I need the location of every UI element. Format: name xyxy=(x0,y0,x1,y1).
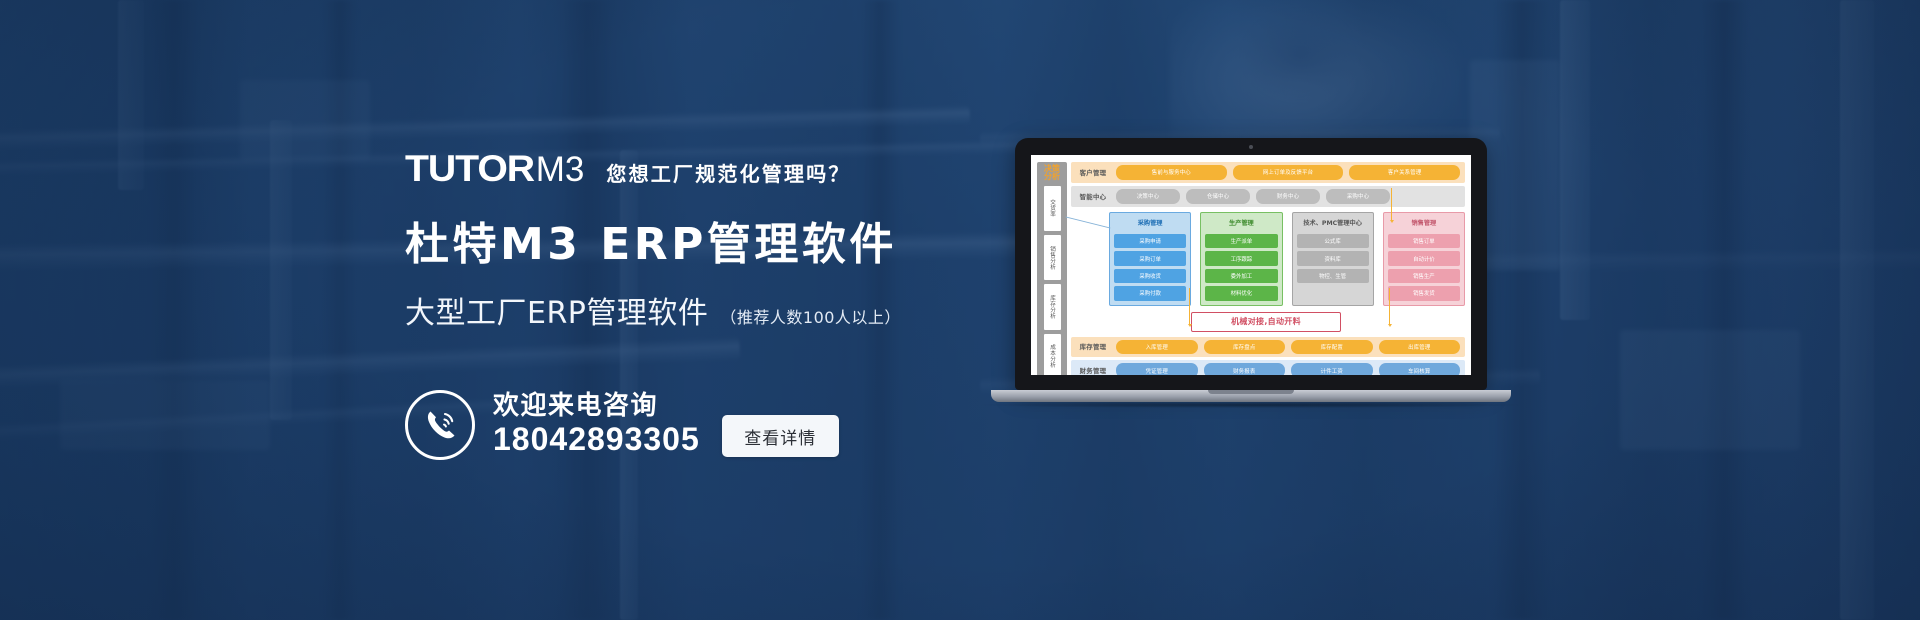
erp-column-item[interactable]: 采购订单 xyxy=(1114,251,1186,265)
erp-band-label: 库存管理 xyxy=(1076,342,1110,351)
laptop-screen: 决策分析 交货率 销售分析 库存分析 成本分析 客户管理 售前与服务中心 网上订… xyxy=(1031,155,1471,375)
erp-column-item[interactable]: 销售生产 xyxy=(1388,269,1460,283)
phone-number[interactable]: 18042893305 xyxy=(493,423,700,457)
brand-tagline: 您想工厂规范化管理吗？ xyxy=(606,158,850,187)
erp-band-finance: 财务管理 凭证管理 财务报表 计件工资 车间核算 xyxy=(1071,360,1465,375)
erp-chip[interactable]: 财务报表 xyxy=(1204,363,1286,375)
erp-sidebar-item[interactable]: 交货率 xyxy=(1044,186,1061,231)
erp-chip[interactable]: 库存配置 xyxy=(1291,340,1373,355)
erp-column-item[interactable]: 销售订单 xyxy=(1388,234,1460,248)
erp-column-item[interactable]: 公式库 xyxy=(1297,234,1369,248)
hero-banner: TUTOR M3 您想工厂规范化管理吗？ 杜特M3 ERP管理软件 大型工厂ER… xyxy=(0,0,1920,620)
cta-row: 欢迎来电咨询 18042893305 查看详情 xyxy=(405,390,839,460)
erp-column-item[interactable]: 物控、生管 xyxy=(1297,269,1369,283)
erp-chip[interactable]: 网上订单及反馈平台 xyxy=(1233,165,1344,180)
erp-band-inventory: 库存管理 入库管理 库存盘点 库存配置 出库管理 xyxy=(1071,337,1465,358)
erp-column-item[interactable]: 资料库 xyxy=(1297,251,1369,265)
erp-chip-spacer xyxy=(1396,193,1460,200)
laptop-base xyxy=(991,390,1511,402)
erp-column-purchasing: 采购管理 采购申请 采购订单 采购收货 采购付款 xyxy=(1109,212,1191,306)
erp-sidebar-item[interactable]: 销售分析 xyxy=(1044,235,1061,280)
erp-column-item[interactable]: 材料优化 xyxy=(1205,286,1277,300)
erp-chip[interactable]: 计件工资 xyxy=(1291,363,1373,375)
logo-model: M3 xyxy=(536,150,585,190)
erp-sidebar-item[interactable]: 库存分析 xyxy=(1044,284,1061,329)
erp-band-label: 财务管理 xyxy=(1076,366,1110,375)
erp-chip[interactable]: 决策中心 xyxy=(1116,189,1180,204)
logo-wordmark: TUTOR xyxy=(405,148,534,190)
erp-arrow xyxy=(1389,288,1390,324)
webcam-icon xyxy=(1249,145,1253,149)
phone-ring-icon xyxy=(405,390,475,460)
hero-subtitle: 大型工厂ERP管理软件 （推荐人数100人以上） xyxy=(405,288,901,332)
erp-sidebar: 决策分析 交货率 销售分析 库存分析 成本分析 xyxy=(1037,162,1067,375)
erp-chip[interactable]: 采购中心 xyxy=(1326,189,1390,204)
erp-chip[interactable]: 库存盘点 xyxy=(1204,340,1286,355)
erp-chip[interactable]: 仓储中心 xyxy=(1186,189,1250,204)
erp-main: 客户管理 售前与服务中心 网上订单及反馈平台 客户关系管理 智能中心 决策中心 … xyxy=(1071,162,1465,375)
erp-band-smart-center: 智能中心 决策中心 仓储中心 财务中心 采购中心 xyxy=(1071,186,1465,207)
erp-connector xyxy=(1066,216,1111,228)
brand-logo: TUTOR M3 您想工厂规范化管理吗？ xyxy=(405,148,851,190)
erp-band-label: 智能中心 xyxy=(1076,192,1110,201)
erp-column-item[interactable]: 采购收货 xyxy=(1114,269,1186,283)
erp-column-item[interactable]: 自动计价 xyxy=(1388,251,1460,265)
erp-chip[interactable]: 入库管理 xyxy=(1116,340,1198,355)
erp-column-item[interactable]: 工序跟踪 xyxy=(1205,251,1277,265)
erp-arrow xyxy=(1189,288,1190,324)
erp-column-title: 技术、PMC管理中心 xyxy=(1297,216,1369,230)
hero-headline: 杜特M3 ERP管理软件 xyxy=(405,208,897,272)
laptop-shadow xyxy=(981,402,1521,408)
erp-diagram: 决策分析 交货率 销售分析 库存分析 成本分析 客户管理 售前与服务中心 网上订… xyxy=(1037,162,1465,375)
erp-column-item[interactable]: 销售发货 xyxy=(1388,286,1460,300)
hero-subtitle-note: （推荐人数100人以上） xyxy=(720,304,901,328)
erp-chip[interactable]: 凭证管理 xyxy=(1116,363,1198,375)
erp-column-title: 采购管理 xyxy=(1114,216,1186,230)
erp-band-label: 客户管理 xyxy=(1076,168,1110,177)
erp-chip[interactable]: 出库管理 xyxy=(1379,340,1461,355)
view-details-button[interactable]: 查看详情 xyxy=(722,415,839,457)
hero-subtitle-main: 大型工厂ERP管理软件 xyxy=(405,288,708,332)
erp-sidebar-title: 决策分析 xyxy=(1044,165,1060,182)
erp-column-sales: 销售管理 销售订单 自动计价 销售生产 销售发货 xyxy=(1383,212,1465,306)
laptop-mockup: 决策分析 交货率 销售分析 库存分析 成本分析 客户管理 售前与服务中心 网上订… xyxy=(1015,138,1521,408)
erp-callout: 机械对接,自动开料 xyxy=(1191,312,1341,332)
erp-column-item[interactable]: 生产派单 xyxy=(1205,234,1277,248)
erp-column-tech-pmc: 技术、PMC管理中心 公式库 资料库 物控、生管 xyxy=(1292,212,1374,306)
phone-text-block: 欢迎来电咨询 18042893305 xyxy=(493,393,700,456)
erp-chip[interactable]: 财务中心 xyxy=(1256,189,1320,204)
erp-column-item[interactable]: 委外加工 xyxy=(1205,269,1277,283)
erp-column-item[interactable]: 采购申请 xyxy=(1114,234,1186,248)
erp-chip[interactable]: 售前与服务中心 xyxy=(1116,165,1227,180)
erp-column-item[interactable]: 采购付款 xyxy=(1114,286,1186,300)
erp-band-customer: 客户管理 售前与服务中心 网上订单及反馈平台 客户关系管理 xyxy=(1071,162,1465,183)
erp-column-title: 生产管理 xyxy=(1205,216,1277,230)
erp-sidebar-item[interactable]: 成本分析 xyxy=(1044,334,1061,375)
erp-columns: 采购管理 采购申请 采购订单 采购收货 采购付款 生产管理 生产派单 工序跟踪 … xyxy=(1109,212,1465,306)
erp-chip[interactable]: 客户关系管理 xyxy=(1349,165,1460,180)
erp-column-title: 销售管理 xyxy=(1388,216,1460,230)
erp-arrow xyxy=(1391,188,1392,220)
erp-chip[interactable]: 车间核算 xyxy=(1379,363,1461,375)
erp-column-production: 生产管理 生产派单 工序跟踪 委外加工 材料优化 xyxy=(1200,212,1282,306)
phone-welcome-label: 欢迎来电咨询 xyxy=(493,393,700,421)
laptop-lid: 决策分析 交货率 销售分析 库存分析 成本分析 客户管理 售前与服务中心 网上订… xyxy=(1015,138,1487,390)
